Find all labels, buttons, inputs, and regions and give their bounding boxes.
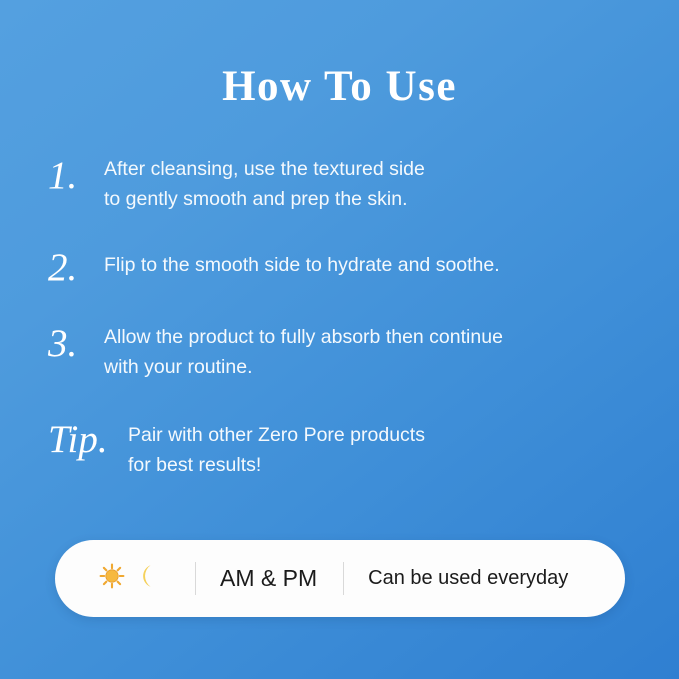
sun-icon — [99, 563, 125, 594]
step-marker-tip: Tip. — [48, 414, 128, 462]
how-to-use-card: How To Use 1. After cleansing, use the t… — [0, 0, 679, 679]
usage-frequency-label: Can be used everyday — [368, 567, 568, 590]
pill-divider-left — [195, 562, 196, 595]
step-text-tip: Pair with other Zero Pore products for b… — [128, 414, 648, 480]
list-item: 3. Allow the product to fully absorb the… — [48, 316, 648, 382]
usage-icons — [99, 563, 157, 594]
step-text-2: Flip to the smooth side to hydrate and s… — [104, 244, 648, 280]
usage-time-label: AM & PM — [220, 565, 317, 592]
steps-list: 1. After cleansing, use the textured sid… — [48, 148, 648, 480]
list-item: 2. Flip to the smooth side to hydrate an… — [48, 244, 648, 290]
list-item-tip: Tip. Pair with other Zero Pore products … — [48, 414, 648, 480]
step-text-3: Allow the product to fully absorb then c… — [104, 316, 648, 382]
usage-badge: AM & PM Can be used everyday — [55, 540, 625, 617]
step-marker-1: 1. — [48, 148, 104, 198]
list-item: 1. After cleansing, use the textured sid… — [48, 148, 648, 214]
page-title: How To Use — [0, 62, 679, 112]
pill-divider-right — [343, 562, 344, 595]
step-marker-2: 2. — [48, 244, 104, 290]
step-marker-3: 3. — [48, 316, 104, 366]
crescent-moon-icon — [133, 563, 157, 594]
step-text-1: After cleansing, use the textured side t… — [104, 148, 648, 214]
